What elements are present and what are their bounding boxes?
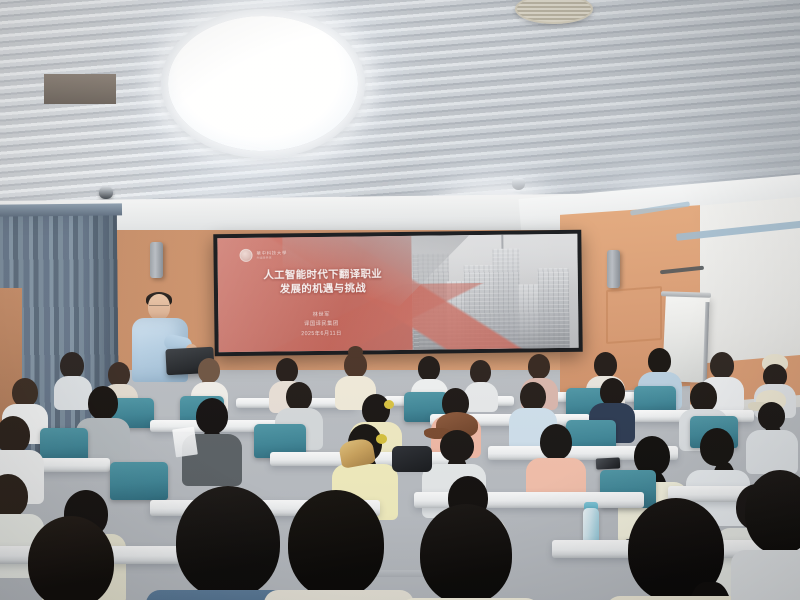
person-head bbox=[60, 352, 84, 379]
person-torso bbox=[54, 376, 92, 410]
person-head bbox=[648, 348, 671, 374]
person-head bbox=[594, 352, 617, 378]
person-head bbox=[362, 394, 390, 425]
chair[interactable] bbox=[40, 428, 88, 462]
ceiling-light-1 bbox=[168, 16, 358, 151]
wall-speaker-left bbox=[150, 242, 163, 278]
person-head bbox=[540, 424, 572, 460]
person-head bbox=[28, 516, 114, 600]
slide-logo-subtext: 外國語學院 bbox=[257, 256, 288, 260]
person-torso bbox=[746, 430, 798, 474]
curtain-rail bbox=[0, 203, 122, 216]
backpack[interactable] bbox=[392, 446, 432, 472]
wall-speaker-right bbox=[607, 250, 620, 288]
slide-presenter-info: 林世军 译国译民集团 2025年6月11日 bbox=[246, 310, 396, 340]
person-torso bbox=[464, 382, 498, 412]
slide-university-logo: 華中科技大學 外國語學院 bbox=[239, 248, 287, 262]
university-crest-icon bbox=[239, 249, 252, 262]
person-hair-bun bbox=[348, 346, 363, 358]
person-hair-clip bbox=[376, 434, 387, 444]
security-camera-icon-left bbox=[99, 186, 113, 199]
person-head bbox=[600, 378, 625, 406]
door-panel[interactable] bbox=[606, 286, 662, 344]
person-head bbox=[288, 490, 384, 598]
person-head bbox=[700, 428, 734, 466]
podium bbox=[44, 74, 116, 104]
slide-title: 人工智能时代下翻译职业 发展的机遇与挑战 bbox=[228, 268, 418, 299]
slide-title-line-2: 发展的机遇与挑战 bbox=[228, 282, 418, 299]
person-hair-clip bbox=[384, 400, 394, 409]
lecture-hall-photo: 華中科技大學 外國語學院 人工智能时代下翻译职业 发展的机遇与挑战 林世军 译国… bbox=[0, 0, 800, 600]
person-head bbox=[418, 356, 440, 381]
chair[interactable] bbox=[110, 462, 168, 500]
person-head bbox=[286, 382, 312, 411]
person-head bbox=[710, 352, 734, 379]
person-head bbox=[745, 470, 800, 554]
person-head bbox=[276, 358, 298, 383]
person-head bbox=[176, 486, 280, 598]
person-torso bbox=[264, 590, 414, 600]
person-head bbox=[690, 382, 717, 412]
projection-screen: 華中科技大學 外國語學院 人工智能时代下翻译职业 发展的机遇与挑战 林世军 译国… bbox=[213, 230, 582, 356]
slide-date: 2025年6月11日 bbox=[246, 329, 396, 340]
person-head bbox=[420, 504, 512, 600]
security-camera-icon-center bbox=[512, 178, 525, 190]
person-head bbox=[470, 360, 491, 384]
smartphone[interactable] bbox=[596, 457, 621, 469]
presenter-glasses-icon bbox=[149, 305, 169, 310]
person-head bbox=[520, 382, 546, 411]
paper-sheet[interactable] bbox=[172, 427, 198, 458]
person-head bbox=[0, 416, 30, 454]
person-head bbox=[12, 378, 38, 407]
person-torso bbox=[731, 550, 800, 600]
